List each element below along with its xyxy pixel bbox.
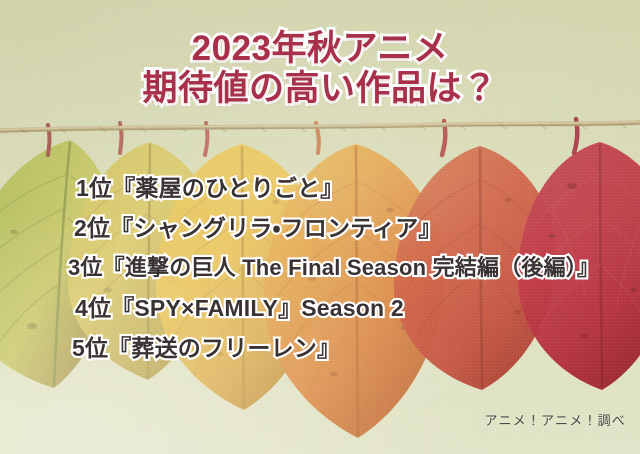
title-line-1: 2023年秋アニメ	[0, 30, 640, 67]
title-line-2: 期待値の高い作品は？	[0, 70, 640, 107]
ranking-item-1: 1位『薬屋のひとりごと』	[0, 168, 640, 208]
ranking-item-2: 2位『シャングリラ・フロンティア』	[0, 208, 640, 248]
ranking-list: 1位『薬屋のひとりごと』 2位『シャングリラ・フロンティア』 3位『進撃の巨人 …	[0, 168, 640, 368]
infographic-canvas: 2023年秋アニメ 期待値の高い作品は？ 1位『薬屋のひとりごと』 2位『シャン…	[0, 0, 640, 454]
ranking-item-5: 5位『葬送のフリーレン』	[0, 328, 640, 368]
ranking-item-3: 3位『進撃の巨人 The Final Season 完結編（後編）』	[0, 248, 640, 288]
page-title: 2023年秋アニメ 期待値の高い作品は？	[0, 30, 640, 107]
source-credit: アニメ！アニメ！調べ	[485, 410, 626, 429]
ranking-item-4: 4位『SPY×FAMILY』Season 2	[0, 288, 640, 328]
